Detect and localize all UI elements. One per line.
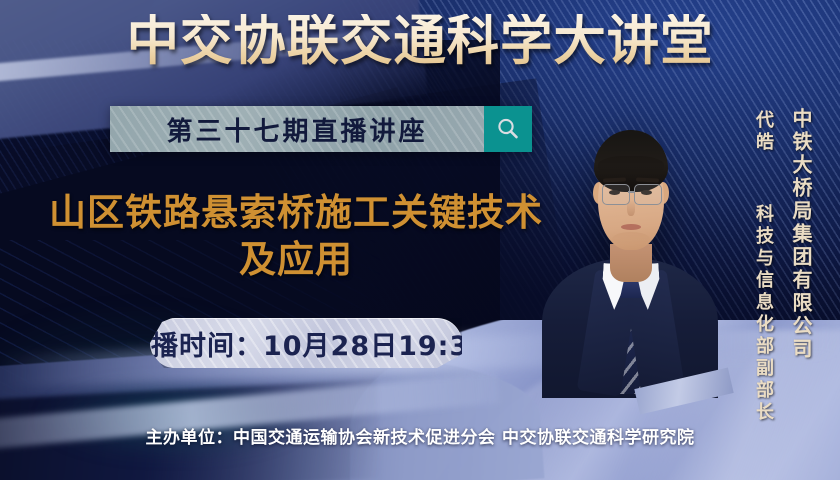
episode-banner-body: 第三十七期直播讲座 <box>110 106 484 152</box>
portrait-hair-fringe <box>598 156 664 178</box>
glasses-icon-left <box>602 184 630 205</box>
live-lecture-poster: 中交协联交通科学大讲堂 第三十七期直播讲座 山区铁路悬索桥施工关键技术 及应用 … <box>0 0 840 480</box>
broadcast-time-label: 直播时间：10月28日19:30 <box>123 324 489 363</box>
speaker-organization: 中铁大桥局集团有限公司 <box>787 108 816 361</box>
glasses-icon-right <box>634 184 662 205</box>
portrait-nose <box>627 200 635 216</box>
broadcast-time-badge: 直播时间：10月28日19:30 <box>150 318 462 368</box>
episode-banner: 第三十七期直播讲座 <box>110 106 532 152</box>
speaker-name-title: 代皓 科技与信息化部副部长 <box>750 110 776 424</box>
portrait-mouth <box>621 224 641 230</box>
lecture-title-line-2: 及应用 <box>26 237 566 284</box>
search-icon <box>495 116 521 142</box>
glasses-bridge <box>628 191 634 193</box>
lecture-title-line-1: 山区铁路悬索桥施工关键技术 <box>26 190 566 237</box>
portrait-chin <box>612 232 650 246</box>
episode-label: 第三十七期直播讲座 <box>166 111 427 148</box>
portrait-tie-knot <box>620 282 642 298</box>
search-icon-tile[interactable] <box>484 106 532 152</box>
page-title: 中交协联交通科学大讲堂 <box>13 14 828 68</box>
lecture-title: 山区铁路悬索桥施工关键技术 及应用 <box>26 190 566 283</box>
speaker-portrait <box>540 96 720 396</box>
organizer-footer: 主办单位：中国交通运输协会新技术促进分会 中交协联交通科学研究院 <box>0 423 840 448</box>
